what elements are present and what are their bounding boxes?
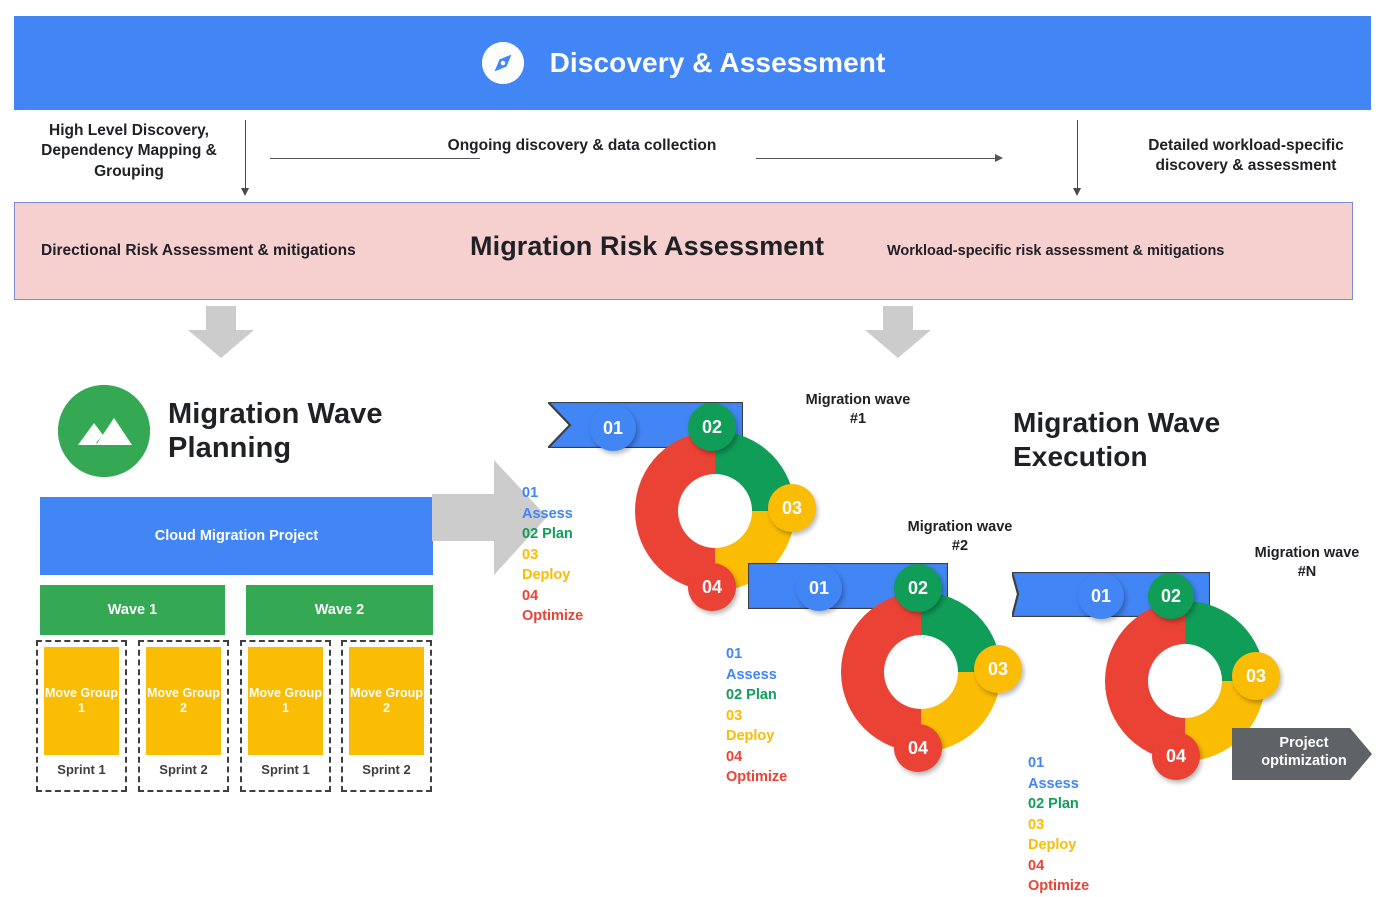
sprint-cell: Move Group 1 Sprint 1 xyxy=(36,640,127,792)
move-group-label: Move Group 2 xyxy=(146,647,221,755)
wave-1-label: Wave 1 xyxy=(108,602,157,618)
sprint-label: Sprint 2 xyxy=(159,762,207,777)
down-arrow-right xyxy=(865,306,931,363)
wave-1-badge-02: 02 xyxy=(688,403,736,451)
cloud-migration-project-box: Cloud Migration Project xyxy=(40,497,433,575)
sprint-label: Sprint 1 xyxy=(261,762,309,777)
wave-2-caption: Migration wave #2 xyxy=(900,518,1020,556)
wave-1-badge-01: 01 xyxy=(590,405,636,451)
wave-n-badge-02: 02 xyxy=(1148,573,1194,619)
legend-item-assess: 01 Assess xyxy=(726,644,787,685)
project-optimization-label: Project optimization xyxy=(1245,735,1363,770)
legend-item-deploy: 03 Deploy xyxy=(522,545,583,586)
flow-left-vline xyxy=(245,120,246,190)
wave-2-label: Wave 2 xyxy=(315,602,364,618)
wave-box-1: Wave 1 xyxy=(40,585,225,635)
discovery-banner: Discovery & Assessment xyxy=(14,16,1371,110)
flow-line-left xyxy=(270,158,480,159)
wave-2-badge-03: 03 xyxy=(974,645,1022,693)
flow-right-arrowhead xyxy=(995,154,1003,162)
legend-item-plan: 02 Plan xyxy=(522,524,583,545)
wave-n-legend: 01 Assess 02 Plan 03 Deploy 04 Optimize xyxy=(1028,753,1089,897)
sprint-cell: Move Group 1 Sprint 1 xyxy=(240,640,331,792)
wave-n-badge-01: 01 xyxy=(1078,573,1124,619)
flow-left-arrowhead xyxy=(241,188,249,196)
legend-item-plan: 02 Plan xyxy=(726,685,787,706)
down-arrow-left xyxy=(188,306,254,363)
flow-line-right xyxy=(756,158,996,159)
wave-2-badge-04: 04 xyxy=(894,724,942,772)
legend-item-deploy: 03 Deploy xyxy=(726,706,787,747)
wave-n-badge-03: 03 xyxy=(1232,652,1280,700)
legend-item-plan: 02 Plan xyxy=(1028,794,1089,815)
compass-icon xyxy=(482,42,524,84)
legend-item-assess: 01 Assess xyxy=(522,483,583,524)
wave-2-badge-01: 01 xyxy=(796,565,842,611)
move-group-label: Move Group 2 xyxy=(349,647,424,755)
legend-item-optimize: 04 Optimize xyxy=(522,586,583,627)
risk-band-title: Migration Risk Assessment xyxy=(470,231,824,262)
sprint-cell: Move Group 2 Sprint 2 xyxy=(138,640,229,792)
move-group-label: Move Group 1 xyxy=(248,647,323,755)
discovery-banner-title: Discovery & Assessment xyxy=(550,47,886,79)
risk-right-text: Workload-specific risk assessment & miti… xyxy=(887,243,1224,259)
flow-right-arrowhead-down xyxy=(1073,188,1081,196)
sprint-cell: Move Group 2 Sprint 2 xyxy=(341,640,432,792)
legend-item-optimize: 04 Optimize xyxy=(1028,856,1089,897)
flow-right-text: Detailed workload-specific discovery & a… xyxy=(1118,136,1374,177)
flow-right-vline xyxy=(1077,120,1078,190)
mountain-icon xyxy=(58,385,150,477)
execution-title: Migration Wave Execution xyxy=(1013,406,1293,473)
move-group-label: Move Group 1 xyxy=(44,647,119,755)
migration-risk-assessment-band: Directional Risk Assessment & mitigation… xyxy=(14,202,1353,300)
wave-1-badge-04: 04 xyxy=(688,563,736,611)
sprint-label: Sprint 1 xyxy=(57,762,105,777)
cloud-migration-project-label: Cloud Migration Project xyxy=(155,528,319,544)
discovery-flow-row: High Level Discovery, Dependency Mapping… xyxy=(0,114,1385,202)
planning-title: Migration Wave Planning xyxy=(168,397,428,465)
legend-item-assess: 01 Assess xyxy=(1028,753,1089,794)
wave-1-badge-03: 03 xyxy=(768,484,816,532)
wave-1-legend: 01 Assess 02 Plan 03 Deploy 04 Optimize xyxy=(522,483,583,627)
sprint-label: Sprint 2 xyxy=(362,762,410,777)
wave-n-badge-04: 04 xyxy=(1152,732,1200,780)
legend-item-optimize: 04 Optimize xyxy=(726,747,787,788)
wave-box-2: Wave 2 xyxy=(246,585,433,635)
legend-item-deploy: 03 Deploy xyxy=(1028,815,1089,856)
wave-2-badge-02: 02 xyxy=(894,564,942,612)
flow-left-text: High Level Discovery, Dependency Mapping… xyxy=(18,121,240,182)
wave-2-legend: 01 Assess 02 Plan 03 Deploy 04 Optimize xyxy=(726,644,787,788)
flow-middle-text: Ongoing discovery & data collection xyxy=(432,136,732,156)
risk-left-text: Directional Risk Assessment & mitigation… xyxy=(41,242,356,260)
